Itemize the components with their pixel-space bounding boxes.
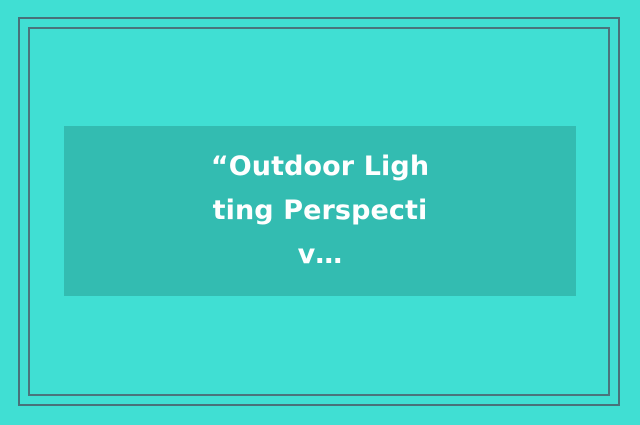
caption-overlay-band: “Outdoor Lighting Perspectiv… bbox=[64, 126, 576, 296]
caption-title-text: “Outdoor Lighting Perspectiv… bbox=[210, 145, 430, 277]
slide-canvas: “Outdoor Lighting Perspectiv… bbox=[0, 0, 640, 425]
